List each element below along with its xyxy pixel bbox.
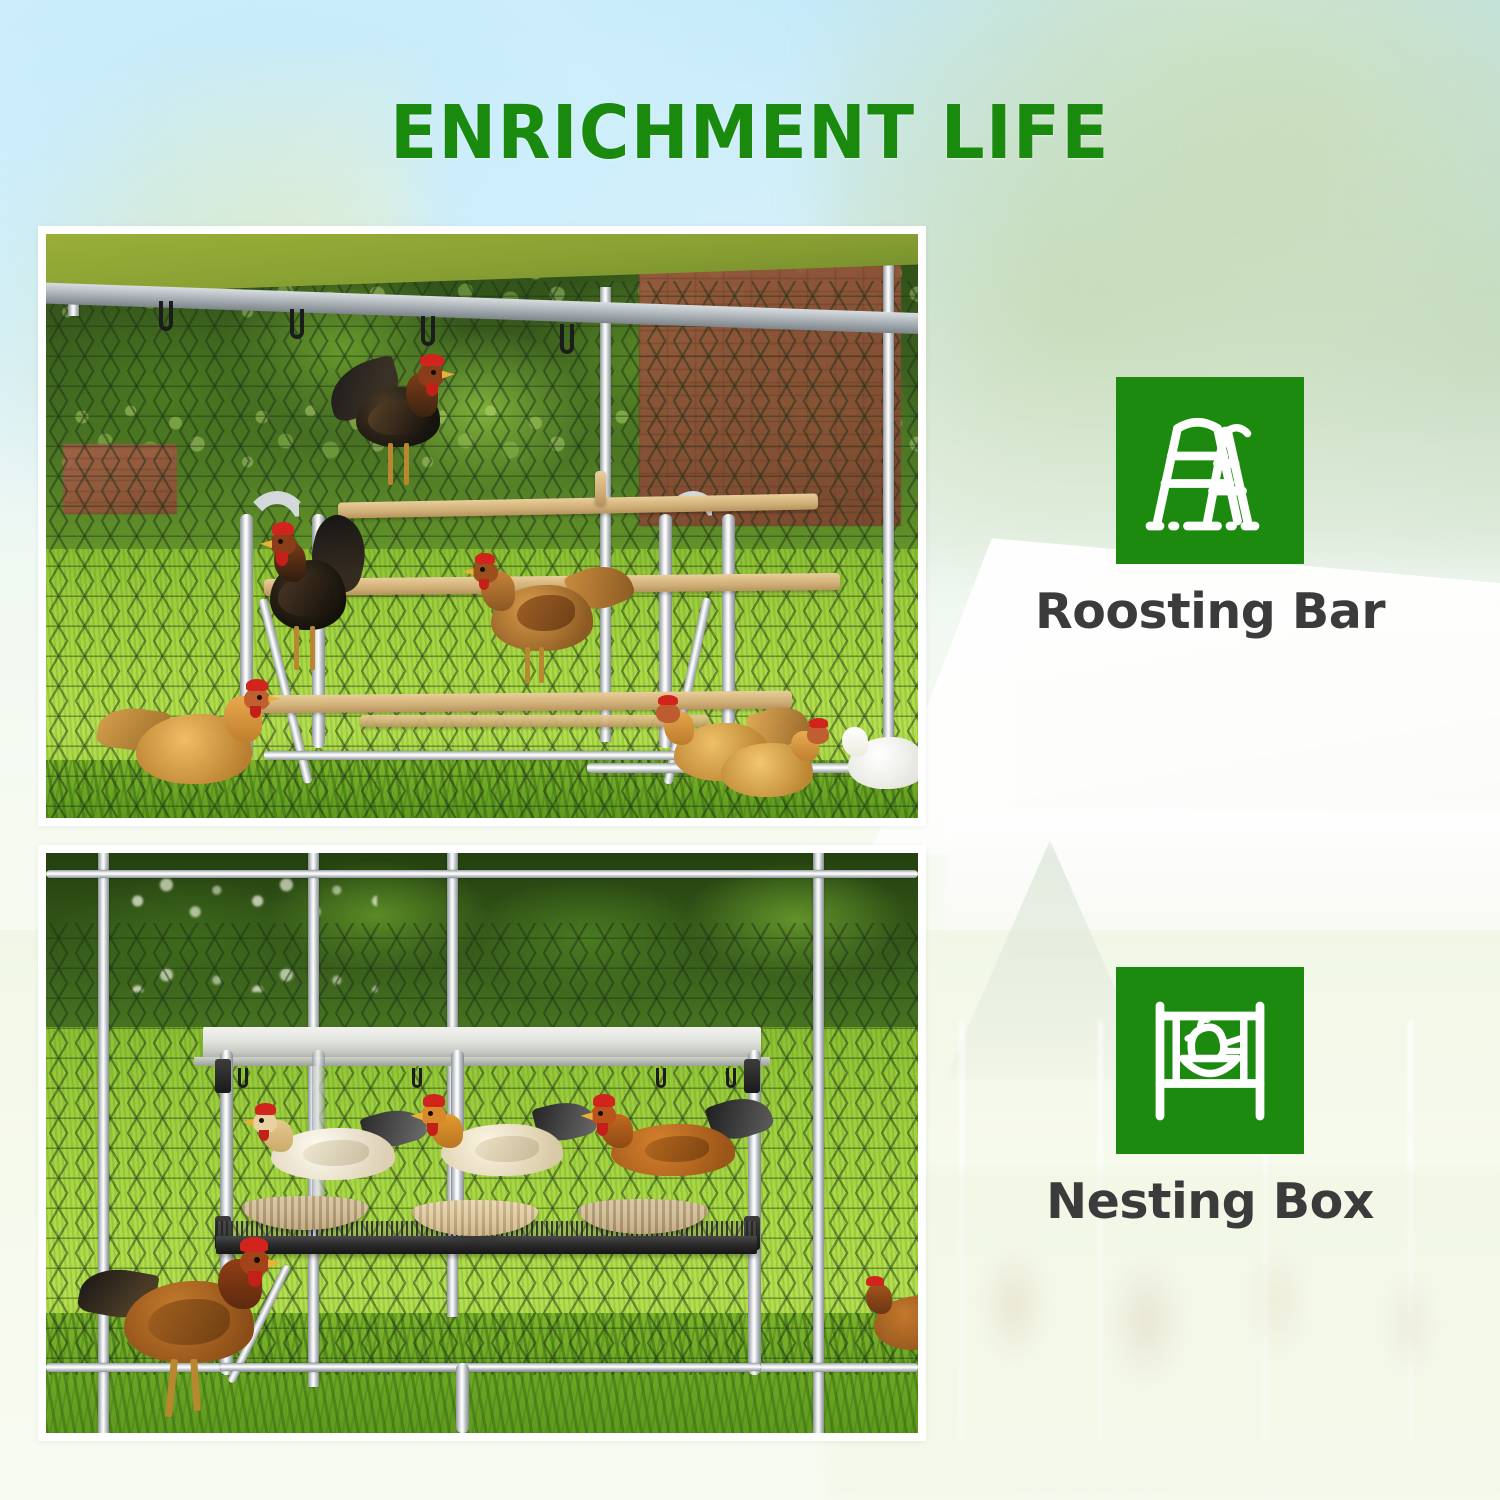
nesting-box-photo xyxy=(38,845,926,1441)
feature-roosting-bar: Roosting Bar xyxy=(1000,377,1420,637)
roost-foot-rail xyxy=(264,751,700,760)
grassrooster-leg-1 xyxy=(165,1359,178,1417)
roof-corner-bracket-right xyxy=(744,1059,760,1093)
black-rooster-on-perch xyxy=(334,357,484,517)
creamhen-comb xyxy=(255,1103,276,1115)
rooster2-comb xyxy=(272,522,294,535)
rooster-leg-1 xyxy=(388,443,393,485)
goldbaskethen-wattle xyxy=(427,1123,438,1136)
hen-beak xyxy=(463,568,474,575)
feature-roosting-bar-label: Roosting Bar xyxy=(1000,586,1420,637)
hen-leg-1 xyxy=(525,647,530,683)
nesting-box-roof-lip xyxy=(194,1057,770,1066)
step-ladder-icon xyxy=(1116,377,1304,564)
redhen-wattle xyxy=(597,1123,608,1136)
edgehen-neck xyxy=(866,1284,892,1314)
rooster2-leg-1 xyxy=(294,626,299,670)
edgehen-comb xyxy=(866,1276,884,1286)
page-title: ENRICHMENT LIFE xyxy=(53,96,1448,170)
run-pole-right xyxy=(813,853,824,1433)
grassrooster-comb xyxy=(240,1237,268,1252)
hen-eye xyxy=(480,567,485,572)
goldhen-wattle xyxy=(250,706,261,718)
rooster2-leg-2 xyxy=(310,626,315,670)
creamhen-wattle xyxy=(259,1130,269,1141)
canopy-hook-3 xyxy=(421,316,435,346)
cream-hen-in-basket xyxy=(247,1114,427,1204)
goldhen2-head xyxy=(656,703,680,723)
red-hen-in-basket xyxy=(587,1108,772,1200)
goldhen2-comb xyxy=(658,695,678,705)
roof-corner-bracket-left xyxy=(215,1059,231,1093)
grassrooster-beak xyxy=(268,1259,282,1268)
gold-hen-left-grass xyxy=(98,690,308,805)
black-rooster-standing xyxy=(264,520,404,680)
redhen-comb xyxy=(593,1094,615,1107)
goldhen-comb xyxy=(246,679,268,691)
canopy-hook-1 xyxy=(159,301,173,331)
nesting-box-roof xyxy=(203,1027,761,1059)
goldbaskethen-wing xyxy=(475,1136,539,1162)
grassrooster-eye xyxy=(254,1257,260,1263)
roost-perch-support-upper xyxy=(595,471,606,505)
gold-hen-right-grass-2 xyxy=(709,725,849,815)
rooster-leg-2 xyxy=(404,443,409,485)
rooster-beak xyxy=(442,371,455,379)
creamhen-wing xyxy=(303,1140,369,1166)
roosting-bar-photo xyxy=(38,226,926,826)
roof-hook-4 xyxy=(726,1068,736,1088)
grassrooster-wattle xyxy=(248,1271,262,1287)
nesting-box-drop-leg xyxy=(456,1363,469,1433)
roof-hook-2 xyxy=(412,1068,422,1088)
white-hen-right xyxy=(848,725,918,805)
goldbaskethen-eye xyxy=(428,1111,433,1116)
whitehen-neck xyxy=(842,727,868,757)
hen-wattle xyxy=(479,579,489,590)
brown-rooster-on-grass xyxy=(90,1259,320,1433)
feature-nesting-box: Nesting Box xyxy=(1000,967,1420,1227)
run-top-rail xyxy=(46,870,918,878)
creamhen-eye xyxy=(259,1118,264,1123)
goldhen3-comb xyxy=(809,718,828,728)
rooster-eye xyxy=(431,370,436,375)
gold-hen-in-basket xyxy=(417,1108,597,1200)
redhen-wing xyxy=(645,1136,709,1162)
hen-comb xyxy=(475,553,495,564)
feature-nesting-box-label: Nesting Box xyxy=(1000,1176,1420,1227)
goldhen-eye xyxy=(257,695,262,700)
canopy-hook-4 xyxy=(560,324,574,354)
goldhen-beak xyxy=(268,696,280,703)
nesting-platform xyxy=(216,1236,757,1255)
redhen-eye xyxy=(598,1111,603,1116)
partridge-hen-right-edge xyxy=(874,1282,918,1372)
roof-hook-1 xyxy=(238,1068,248,1088)
nesting-hen-icon xyxy=(1116,967,1304,1154)
canopy-hook-2 xyxy=(290,309,304,339)
brown-hen-on-perch xyxy=(465,555,635,695)
hen-leg-2 xyxy=(539,647,544,683)
goldbaskethen-comb xyxy=(423,1094,445,1107)
rooster-comb xyxy=(420,354,444,366)
hen-wing xyxy=(517,595,575,631)
grassrooster-leg-2 xyxy=(190,1359,201,1411)
roof-hook-3 xyxy=(656,1068,666,1088)
rooster-wattle xyxy=(426,383,438,396)
